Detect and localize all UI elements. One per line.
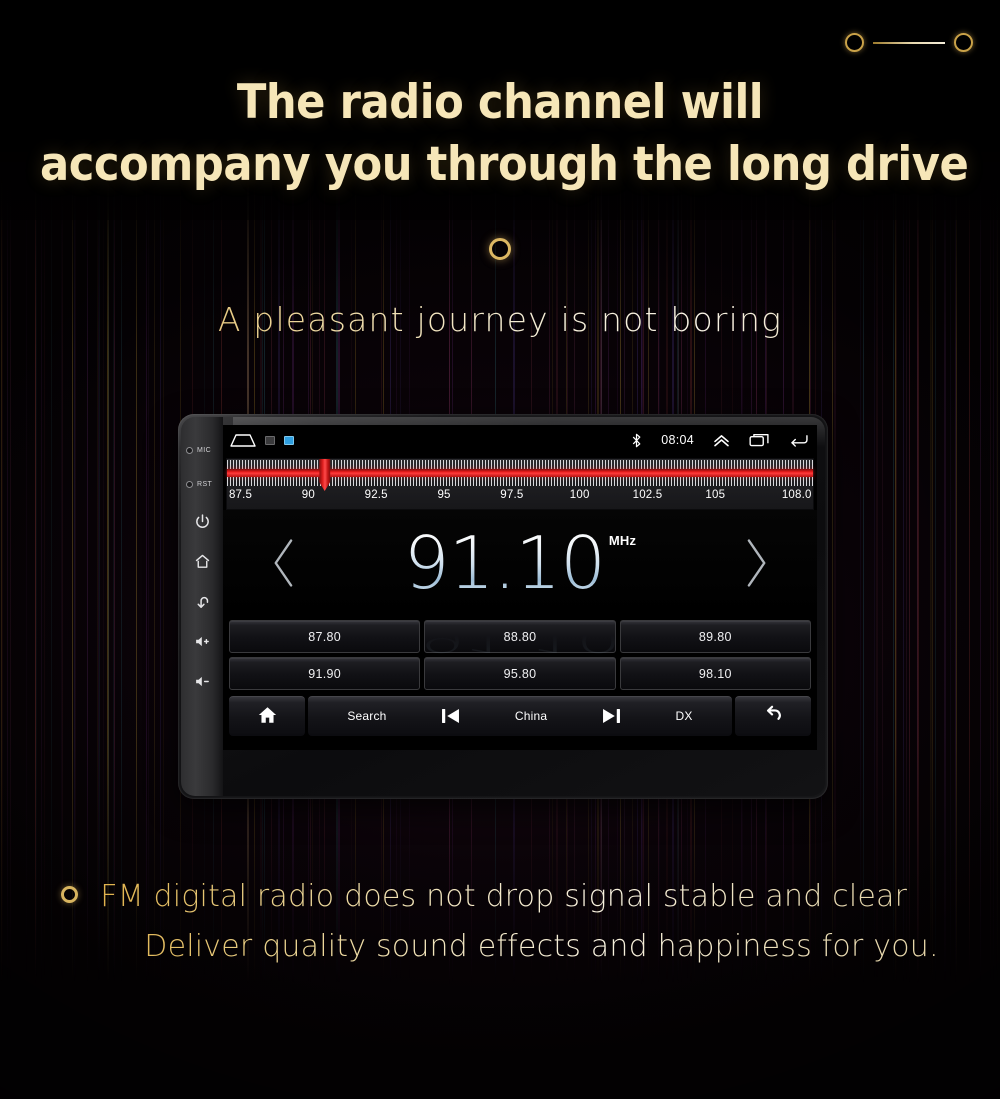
circle-outline-icon <box>489 238 511 260</box>
chevron-right-icon[interactable] <box>741 537 771 589</box>
power-icon <box>194 513 211 530</box>
toolbar-home-button[interactable] <box>229 696 305 736</box>
frequency-tuner-scale[interactable]: 87.59092.59597.5100102.5105108.0 <box>226 458 814 510</box>
tuner-needle[interactable] <box>319 459 330 491</box>
frequency-value: 91.10 <box>404 525 605 601</box>
volume-down-icon <box>194 673 211 690</box>
device-bezel: MIC RST <box>181 417 825 796</box>
search-button[interactable]: Search <box>347 709 386 723</box>
mic-indicator: MIC <box>181 433 223 467</box>
frequency-display-area: 91.10 MHz 91.10 <box>223 510 817 616</box>
tuner-scale-label: 97.5 <box>500 489 523 501</box>
bezel-volume-up-button[interactable] <box>181 621 223 661</box>
bezel-power-button[interactable] <box>181 501 223 541</box>
tuner-scale-label: 90 <box>302 489 315 501</box>
caption-text: FM digital radio does not drop signal st… <box>100 872 938 972</box>
dx-sensitivity-button[interactable]: DX <box>676 709 693 723</box>
preset-button[interactable]: 88.80 <box>424 620 615 653</box>
tuner-scale-label: 92.5 <box>365 489 388 501</box>
headline-line-1: The radio channel will <box>40 72 960 134</box>
back-icon <box>194 593 211 610</box>
caption-line-1: FM digital radio does not drop signal st… <box>100 872 938 922</box>
skip-previous-icon <box>441 708 460 724</box>
subtitle-ornament <box>0 238 1000 260</box>
home-outline-icon[interactable] <box>230 433 256 447</box>
mic-dot-icon <box>186 447 193 454</box>
tuner-scale-label: 100 <box>570 489 590 501</box>
skip-next-icon <box>602 708 621 724</box>
home-icon <box>194 553 211 570</box>
bezel-back-button[interactable] <box>181 581 223 621</box>
frequency-unit-label: MHz <box>609 533 636 548</box>
skip-next-button[interactable] <box>602 708 621 724</box>
skip-previous-button[interactable] <box>441 708 460 724</box>
chevron-left-icon[interactable] <box>269 537 299 589</box>
caption-line-2: Deliver quality sound effects and happin… <box>100 922 938 972</box>
circle-outline-icon <box>61 886 78 903</box>
tuner-ticks-top <box>227 460 813 469</box>
tuner-scale-labels: 87.59092.59597.5100102.5105108.0 <box>227 489 813 507</box>
radio-bottom-toolbar: Search China <box>229 696 811 736</box>
mic-label: MIC <box>197 447 211 454</box>
bluetooth-icon <box>631 433 642 448</box>
bezel-home-button[interactable] <box>181 541 223 581</box>
bezel-volume-down-button[interactable] <box>181 661 223 701</box>
preset-button[interactable]: 87.80 <box>229 620 420 653</box>
back-arrow-icon[interactable] <box>789 433 809 447</box>
tuner-scale-label: 87.5 <box>229 489 252 501</box>
tuner-scale-label: 102.5 <box>633 489 663 501</box>
notification-blue-icon[interactable] <box>284 436 294 445</box>
preset-button[interactable]: 98.10 <box>620 657 811 690</box>
top-ornament <box>845 33 973 52</box>
preset-button[interactable]: 89.80 <box>620 620 811 653</box>
chevron-up-icon[interactable] <box>713 434 730 447</box>
band-region-button[interactable]: China <box>515 709 547 723</box>
home-filled-icon <box>258 706 277 727</box>
android-status-bar: 08:04 <box>223 425 817 455</box>
page-title: The radio channel will accompany you thr… <box>40 72 960 196</box>
preset-station-grid: 87.8088.8089.8091.9095.8098.10 <box>229 620 811 690</box>
reset-button[interactable]: RST <box>181 467 223 501</box>
circle-outline-icon <box>954 33 973 52</box>
recent-apps-icon[interactable] <box>749 433 770 447</box>
tuner-scale-label: 95 <box>437 489 450 501</box>
tuner-scale-label: 108.0 <box>782 489 812 501</box>
volume-up-icon <box>194 633 211 650</box>
status-bar-clock: 08:04 <box>661 433 694 447</box>
reset-label: RST <box>197 481 212 488</box>
return-arrow-icon <box>763 705 783 727</box>
preset-button[interactable]: 95.80 <box>424 657 615 690</box>
subtitle: A pleasant journey is not boring <box>0 300 1000 339</box>
tuner-band-bar <box>227 469 813 477</box>
frequency-value-group: 91.10 MHz 91.10 <box>404 525 636 601</box>
device-left-control-strip: MIC RST <box>181 417 223 796</box>
toolbar-back-button[interactable] <box>735 696 811 736</box>
tuner-ticks-bottom <box>227 477 813 486</box>
tuner-scale-label: 105 <box>705 489 725 501</box>
device-screen: 08:04 <box>223 425 817 750</box>
preset-button[interactable]: 91.90 <box>229 657 420 690</box>
toolbar-tuning-group: Search China <box>308 696 732 736</box>
headline-line-2: accompany you through the long drive <box>40 134 960 196</box>
ornament-connector-line <box>873 42 945 44</box>
reset-dot-icon <box>186 481 193 488</box>
circle-outline-icon <box>845 33 864 52</box>
car-head-unit-device: MIC RST <box>178 414 828 799</box>
bottom-caption: FM digital radio does not drop signal st… <box>0 872 1000 972</box>
notification-grey-icon[interactable] <box>265 436 275 445</box>
